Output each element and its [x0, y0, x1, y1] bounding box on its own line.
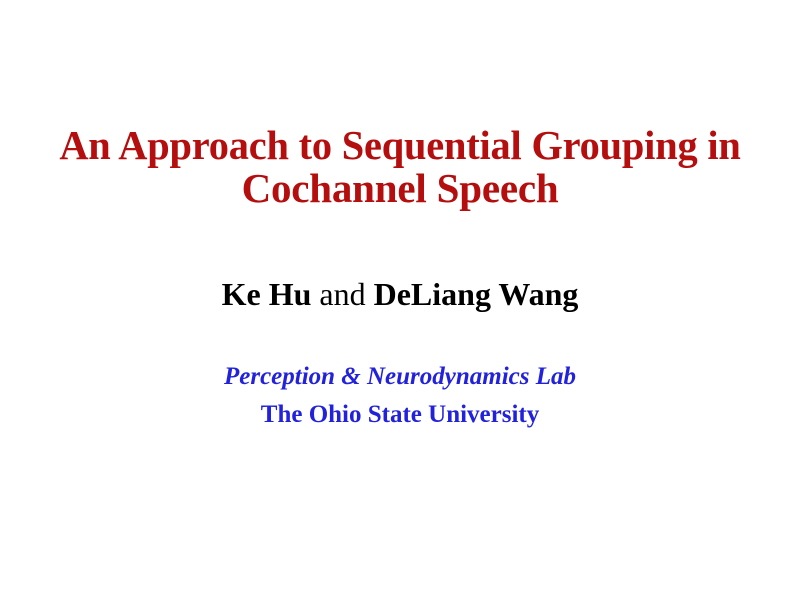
author-conjunction: and [311, 276, 373, 312]
title-line-1: An Approach to Sequential Grouping in [6, 124, 794, 167]
affiliation-lab: Perception & Neurodynamics Lab [0, 361, 800, 392]
title-slide: An Approach to Sequential Grouping in Co… [0, 0, 800, 599]
affiliation: Perception & Neurodynamics Lab The Ohio … [0, 361, 800, 430]
slide-title: An Approach to Sequential Grouping in Co… [0, 124, 800, 210]
author-deliang-wang: DeLiang Wang [374, 276, 579, 312]
title-line-2: Cochannel Speech [0, 167, 800, 210]
author-list: Ke Hu and DeLiang Wang [0, 275, 800, 313]
author-ke-hu: Ke Hu [222, 276, 312, 312]
affiliation-organization: The Ohio State University [0, 399, 800, 430]
